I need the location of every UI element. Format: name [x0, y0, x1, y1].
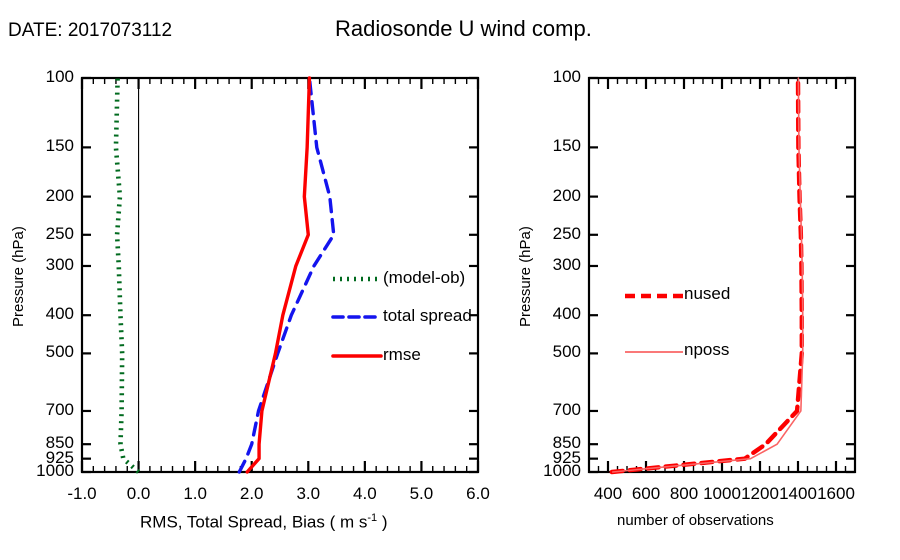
- right-ytick-label: 250: [527, 224, 581, 244]
- chart-canvas: DATE: 2017073112 Radiosonde U wind comp.…: [0, 0, 900, 560]
- right-plot-frame: [589, 78, 855, 472]
- left-ytick-label: 400: [20, 304, 74, 324]
- units-exponent: -1: [367, 512, 377, 524]
- left-series-modelob: [116, 78, 139, 472]
- right-ytick-label: 200: [527, 186, 581, 206]
- right-y-axis-title: Pressure (hPa): [517, 226, 534, 327]
- right-ytick-label: 400: [527, 304, 581, 324]
- right-series-nposs: [613, 78, 803, 472]
- right-x-axis-title: number of observations: [617, 512, 774, 529]
- left-ytick-label: 250: [20, 224, 74, 244]
- right-ytick-label: 1000: [527, 461, 581, 481]
- left-ytick-label: 300: [20, 255, 74, 275]
- right-ytick-label: 150: [527, 136, 581, 156]
- left-ytick-label: 700: [20, 400, 74, 420]
- right-ytick-label: 500: [527, 342, 581, 362]
- left-ytick-label: 200: [20, 186, 74, 206]
- left-ytick-label: 1000: [20, 461, 74, 481]
- left-y-axis-title: Pressure (hPa): [10, 226, 27, 327]
- legend-label-totalspread: total spread: [383, 306, 472, 326]
- left-ytick-label: 100: [20, 67, 74, 87]
- legend-label-modelob: (model-ob): [383, 268, 465, 288]
- left-ytick-label: 500: [20, 342, 74, 362]
- legend-label-rmse: rmse: [383, 345, 421, 365]
- right-ytick-label: 100: [527, 67, 581, 87]
- right-ytick-label: 700: [527, 400, 581, 420]
- legend-label-nposs: nposs: [684, 340, 729, 360]
- legend-label-nused: nused: [684, 284, 730, 304]
- right-ytick-label: 300: [527, 255, 581, 275]
- left-ytick-label: 150: [20, 136, 74, 156]
- left-series-totalspread: [239, 78, 333, 472]
- right-xtick-label: 1600: [791, 484, 881, 504]
- left-x-axis-title: RMS, Total Spread, Bias ( m s-1 ): [140, 512, 388, 533]
- left-xtick-label: 6.0: [433, 484, 523, 504]
- right-series-nused: [612, 78, 802, 472]
